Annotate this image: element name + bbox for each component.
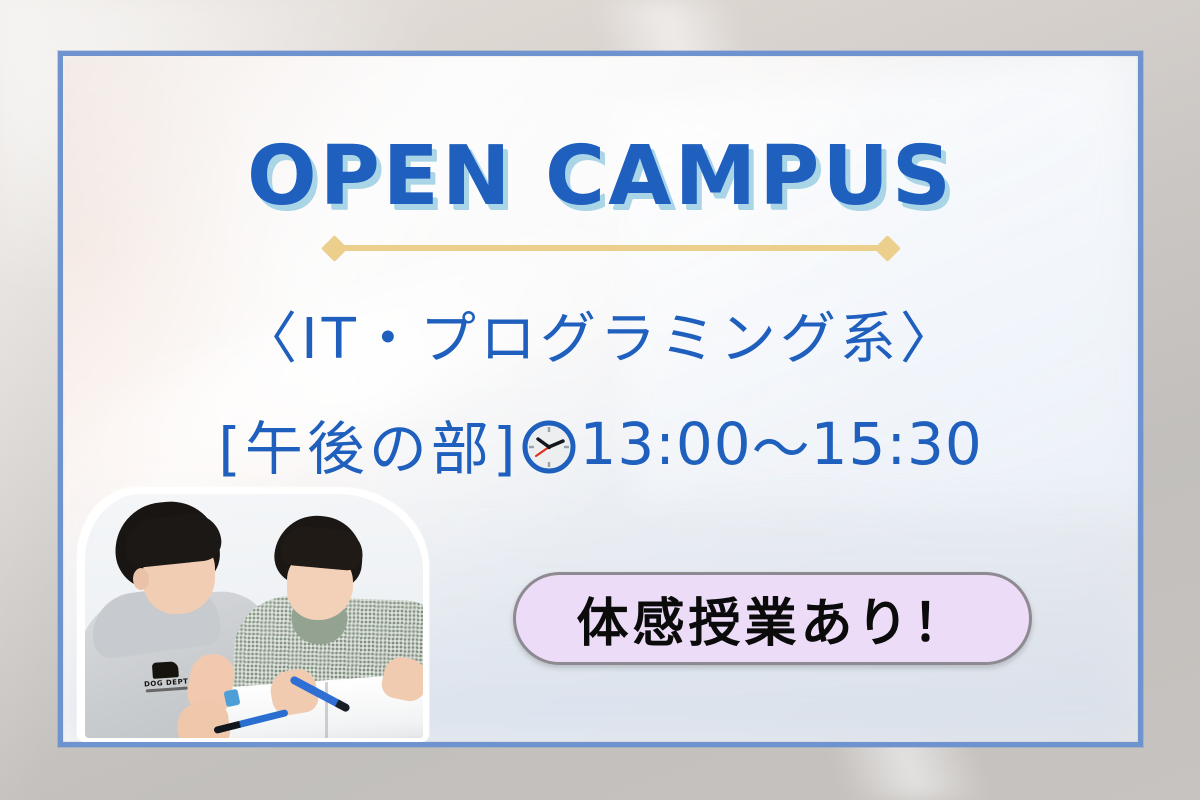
status-badge: 体感授業あり！ [513,572,1032,665]
diamond-left-icon [321,235,348,262]
students-photo-cutout: DOG DEPT [63,480,443,742]
end-time: 15:30 [811,410,983,478]
student-left-ear [133,568,149,590]
diamond-right-icon [874,235,901,262]
session-label: [午後の部] [218,402,519,486]
clock-icon [521,419,577,475]
page-title: OPEN CAMPUS [63,129,1138,224]
start-time: 13:00 [579,410,751,478]
poster-canvas: OPEN CAMPUS 〈IT・プログラミング系〉 [午後の部] [0,0,1200,800]
hoodie-logo: DOG DEPT [140,660,192,697]
pen-cap-chip [223,689,240,708]
divider [325,237,897,259]
photo-room-backdrop: DOG DEPT [85,494,423,738]
students-photo: DOG DEPT [63,480,443,742]
time-row: [午後の部] 13:00 〜 15 [63,402,1138,486]
subtitle-category: 〈IT・プログラミング系〉 [63,294,1138,375]
divider-line [341,245,881,251]
poster-frame: OPEN CAMPUS 〈IT・プログラミング系〉 [午後の部] [58,51,1143,747]
poster-content: OPEN CAMPUS 〈IT・プログラミング系〉 [午後の部] [63,56,1138,742]
dog-icon [152,661,179,679]
time-range-separator: 〜 [752,402,811,486]
